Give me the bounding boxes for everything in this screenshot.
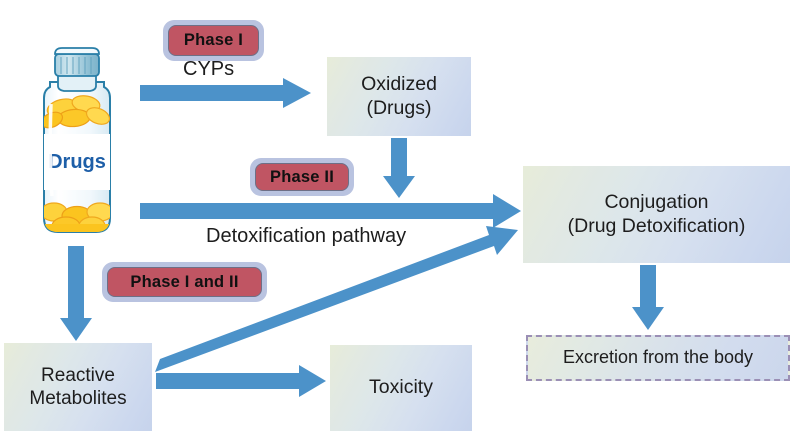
node-toxicity-label: Toxicity	[369, 376, 433, 400]
node-conjugation-label: Conjugation (Drug Detoxification)	[568, 191, 746, 239]
node-reactive-metabolites-label: Reactive Metabolites	[29, 364, 126, 410]
badge-phase-1-and-2-label: Phase I and II	[107, 267, 262, 297]
bottle-pills-bottom	[41, 203, 113, 235]
arrow-reactive-to-toxicity	[156, 365, 326, 397]
node-excretion[interactable]: Excretion from the body	[526, 335, 790, 381]
arrow-oxidized-to-conjugation	[383, 138, 415, 198]
diagram-canvas: Drugs Oxidized (Drugs) Conjugation (Drug…	[0, 0, 800, 435]
bottle-label-text: Drugs	[48, 151, 106, 173]
label-cyps: CYPs	[183, 58, 234, 81]
arrow-drugs-to-conjugation	[140, 194, 521, 228]
node-toxicity[interactable]: Toxicity	[330, 345, 472, 431]
bottle-highlight	[50, 104, 52, 196]
node-excretion-label: Excretion from the body	[563, 347, 753, 369]
arrow-drugs-to-oxidized	[140, 78, 311, 108]
drug-bottle-illustration: Drugs	[22, 46, 132, 246]
badge-phase-1[interactable]: Phase I	[163, 20, 264, 61]
node-reactive-metabolites[interactable]: Reactive Metabolites	[4, 343, 152, 431]
node-oxidized-drugs-label: Oxidized (Drugs)	[361, 73, 437, 121]
arrow-drugs-to-reactive	[60, 246, 92, 341]
node-conjugation[interactable]: Conjugation (Drug Detoxification)	[523, 166, 790, 263]
badge-phase-2[interactable]: Phase II	[250, 158, 354, 196]
badge-phase-1-label: Phase I	[168, 25, 259, 56]
badge-phase-1-and-2[interactable]: Phase I and II	[102, 262, 267, 302]
node-oxidized-drugs[interactable]: Oxidized (Drugs)	[327, 57, 471, 136]
bottle-cap	[55, 48, 99, 76]
label-detoxification-pathway: Detoxification pathway	[206, 225, 406, 248]
arrow-conjugation-to-excretion	[632, 265, 664, 330]
badge-phase-2-label: Phase II	[255, 163, 349, 191]
